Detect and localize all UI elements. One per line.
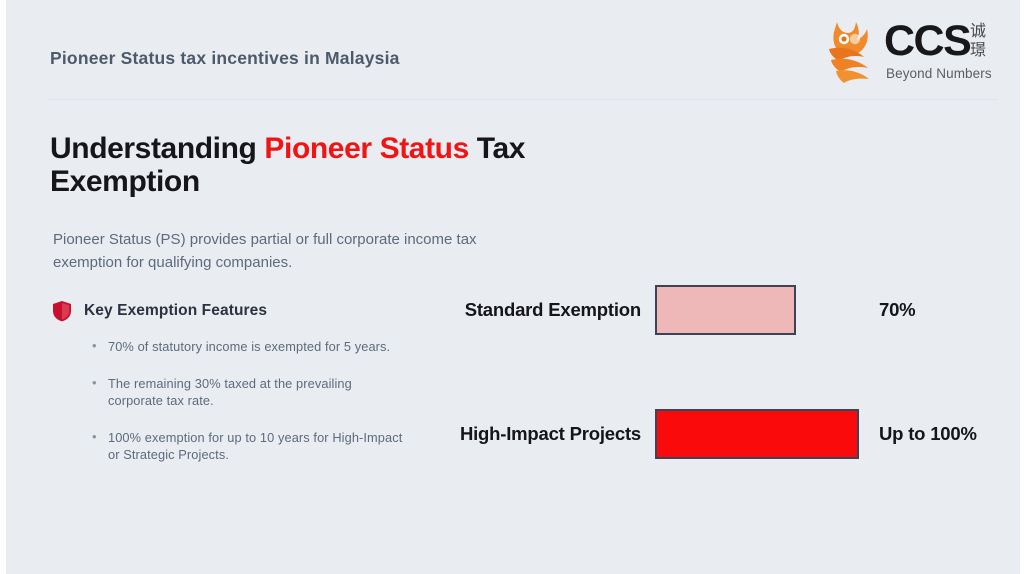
- bar-standard-exemption: [655, 285, 796, 335]
- list-item: The remaining 30% taxed at the prevailin…: [92, 375, 404, 409]
- owl-icon: [824, 16, 886, 84]
- slide-canvas: Pioneer Status tax incentives in Malaysi…: [6, 0, 1020, 574]
- intro-paragraph: Pioneer Status (PS) provides partial or …: [53, 228, 523, 274]
- eyebrow-title: Pioneer Status tax incentives in Malaysi…: [50, 48, 400, 69]
- header-divider: [48, 99, 998, 100]
- headline-highlight: Pioneer Status: [264, 132, 468, 165]
- logo-chinese-characters: 诚璟: [970, 22, 998, 60]
- shield-icon: [52, 300, 72, 322]
- bar-track: [655, 282, 865, 338]
- logo-tagline: Beyond Numbers: [886, 66, 992, 81]
- headline-part-1: Understanding: [50, 132, 264, 165]
- bar-value-label: Up to 100%: [865, 423, 977, 445]
- list-item: 70% of statutory income is exempted for …: [92, 338, 404, 355]
- bar-category-label: Standard Exemption: [426, 299, 655, 321]
- bar-high-impact-projects: [655, 409, 859, 459]
- brand-logo: CCS 诚璟 Beyond Numbers: [822, 14, 998, 90]
- chart-row-standard-exemption: Standard Exemption 70%: [426, 282, 1020, 338]
- bar-category-label: High-Impact Projects: [426, 423, 655, 445]
- logo-wordmark: CCS: [884, 20, 970, 63]
- key-features-title: Key Exemption Features: [84, 302, 267, 320]
- list-item: 100% exemption for up to 10 years for Hi…: [92, 429, 404, 463]
- bar-track: [655, 406, 865, 462]
- chart-row-high-impact-projects: High-Impact Projects Up to 100%: [426, 406, 1020, 462]
- key-features-list: 70% of statutory income is exempted for …: [92, 338, 404, 463]
- exemption-bar-chart: Standard Exemption 70% High-Impact Proje…: [426, 270, 1020, 490]
- bar-value-label: 70%: [865, 299, 915, 321]
- key-features-header: Key Exemption Features: [52, 300, 267, 322]
- page-title: Understanding Pioneer Status Tax Exempti…: [50, 132, 610, 198]
